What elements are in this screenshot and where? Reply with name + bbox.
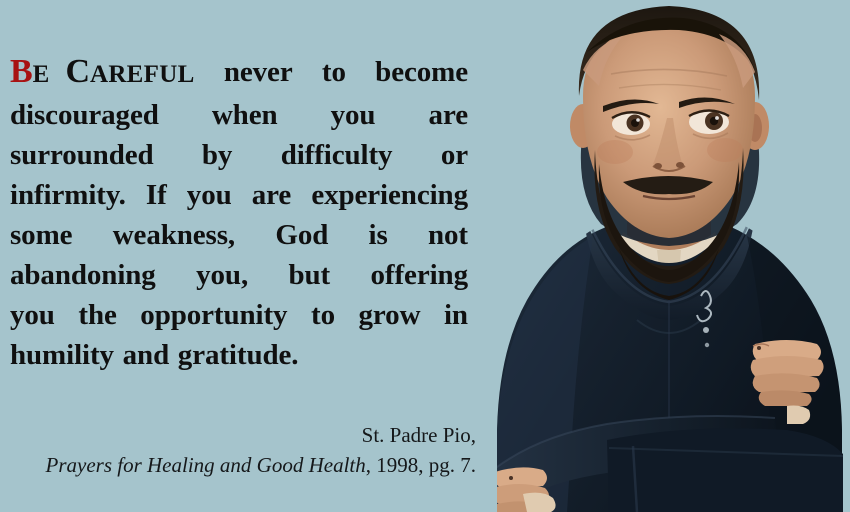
quote-word: the [78, 295, 116, 335]
smallcap-e: E [33, 61, 50, 88]
attribution-source-title: Prayers for Healing and Good Health [46, 453, 366, 477]
quote-word: when [212, 95, 278, 135]
quote-word: you [10, 295, 55, 335]
quote-word: opportunity [140, 295, 287, 335]
quote-word: grow [359, 295, 421, 335]
quote-word: humility [10, 335, 114, 375]
quote-word: in [444, 295, 468, 335]
quote-opening-phrase: BECAREFUL [10, 52, 195, 95]
quote-word: surrounded [10, 135, 154, 175]
drop-cap-b: B [10, 53, 33, 90]
padre-pio-portrait [487, 0, 850, 512]
quote-word: but [289, 255, 331, 295]
quote-word: discouraged [10, 95, 159, 135]
attribution: St. Padre Pio, Prayers for Healing and G… [16, 420, 476, 480]
quote-word: not [428, 215, 468, 255]
quote-word: offering [371, 255, 468, 295]
quote-word: and [123, 335, 169, 375]
quote-line-1: BECAREFUL never to become [10, 52, 468, 95]
quote-line-8: humility and gratitude. [10, 335, 468, 375]
quote-word: weakness, [113, 215, 235, 255]
quote-word: God [275, 215, 328, 255]
quote-word: you [331, 95, 376, 135]
quote-word: gratitude. [178, 335, 299, 375]
cap-c: C [66, 53, 90, 90]
quote-line-6: abandoning you, but offering [10, 255, 468, 295]
quote-word: become [375, 52, 468, 95]
quote-line-2: discouraged when you are [10, 95, 468, 135]
quote-line-3: surrounded by difficulty or [10, 135, 468, 175]
quote-word: never [224, 52, 293, 95]
quote-word: by [202, 135, 232, 175]
quote-word: some [10, 215, 72, 255]
quote-word: to [322, 52, 346, 95]
quote-word: are [252, 175, 291, 215]
quote-word: is [369, 215, 388, 255]
attribution-author: St. Padre Pio, [16, 420, 476, 450]
quote-word: to [311, 295, 335, 335]
quote-text: BECAREFUL never to become discouraged wh… [10, 52, 468, 375]
quote-word: difficulty [281, 135, 393, 175]
quote-line-5: some weakness, God is not [10, 215, 468, 255]
smallcap-areful: AREFUL [90, 61, 195, 88]
quote-word: infirmity. [10, 175, 126, 215]
quote-word: you [187, 175, 232, 215]
quote-word: abandoning [10, 255, 156, 295]
attribution-source: Prayers for Healing and Good Health, 199… [16, 450, 476, 480]
quote-word: experiencing [311, 175, 468, 215]
quote-word: If [146, 175, 167, 215]
quote-word: are [429, 95, 468, 135]
quote-word: you, [196, 255, 248, 295]
quote-word: or [441, 135, 468, 175]
attribution-source-details: , 1998, pg. 7. [366, 453, 476, 477]
quote-poster: BECAREFUL never to become discouraged wh… [0, 0, 850, 512]
quote-line-4: infirmity. If you are experiencing [10, 175, 468, 215]
quote-line-7: you the opportunity to grow in [10, 295, 468, 335]
